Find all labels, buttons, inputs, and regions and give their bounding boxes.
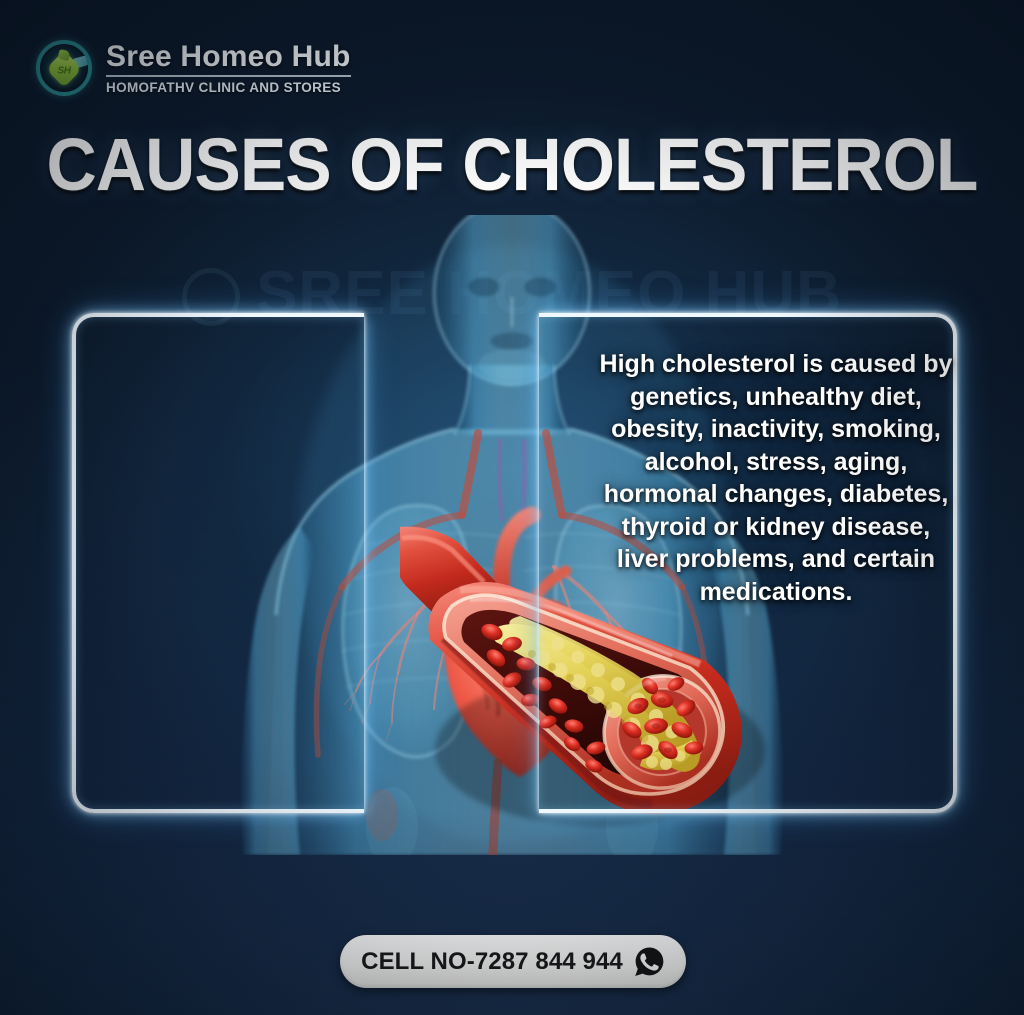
contact-pill[interactable]: CELL NO-7287 844 944 (340, 935, 686, 988)
page-title: CAUSES OF CHOLESTEROL (31, 128, 994, 202)
logo-bag-neck-icon (58, 49, 71, 61)
whatsapp-icon[interactable] (634, 946, 665, 977)
brand-logo[interactable]: SH Sree Homeo Hub HOMOFATHV CLINIC AND S… (36, 40, 351, 96)
money-bag-logo-icon: SH (36, 40, 92, 96)
brand-name: Sree Homeo Hub (106, 42, 351, 77)
brand-tagline: HOMOFATHV CLINIC AND STORES (106, 80, 351, 95)
causes-description: High cholesterol is caused by genetics, … (597, 348, 955, 608)
poster-canvas: SREE HOMEO HUB (0, 0, 1024, 1015)
logo-monogram: SH (58, 65, 71, 76)
contact-number: CELL NO-7287 844 944 (361, 948, 623, 976)
brand-text-block: Sree Homeo Hub HOMOFATHV CLINIC AND STOR… (106, 42, 351, 95)
